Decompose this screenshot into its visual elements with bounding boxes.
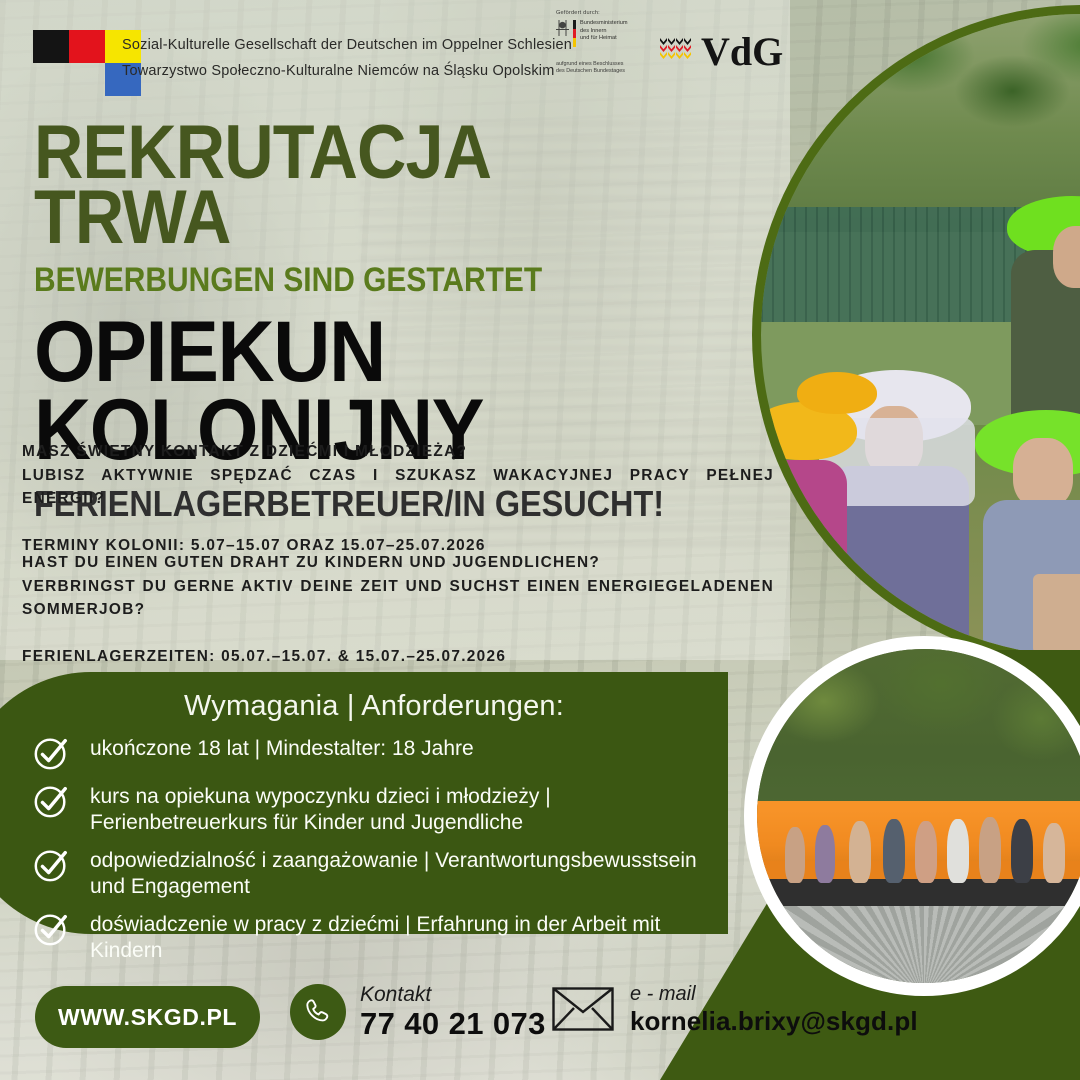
- train-passenger: [915, 821, 937, 883]
- email-address: kornelia.brixy@skgd.pl: [630, 1006, 918, 1036]
- list-item: doświadczenie w pracy z dziećmi | Erfahr…: [32, 909, 728, 964]
- phone-number: 77 40 21 073: [360, 1007, 546, 1041]
- body-de-line-2: VERBRINGST DU GERNE AKTIV DEINE ZEIT UND…: [22, 575, 774, 646]
- list-item: odpowiedzialność i zaangażowanie | Veran…: [32, 845, 728, 900]
- requirement-text: kurs na opiekuna wypoczynku dzieci i mło…: [90, 781, 728, 836]
- train-passenger: [947, 819, 969, 883]
- legs-adult: [1033, 574, 1080, 654]
- check-circle-icon: [32, 910, 70, 948]
- headline-kicker-pl: REKRUTACJA TRWA: [34, 120, 700, 251]
- bmi-line-2: des Innern: [580, 28, 628, 36]
- train-passenger: [785, 827, 805, 883]
- skgd-organisation-name: Sozial-Kulturelle Gesellschaft der Deuts…: [122, 32, 572, 84]
- train-passenger: [1011, 819, 1033, 883]
- photo-scene-top: [761, 14, 1080, 656]
- bmi-basis-line-2: des Deutschen Bundestages: [556, 68, 656, 75]
- headline-kicker-de: BEWERBUNGEN SIND GESTARTET: [34, 263, 685, 299]
- body-pl-line-1: MASZ ŚWIETNY KONTAKT Z DZIEĆMI I MŁODZIE…: [22, 440, 774, 464]
- bmi-basis-line-1: aufgrund eines Beschlusses: [556, 61, 656, 68]
- check-circle-icon: [32, 734, 70, 772]
- body-de-line-1: HAST DU EINEN GUTEN DRAHT ZU KINDERN UND…: [22, 551, 774, 575]
- train-passenger: [815, 825, 835, 883]
- logo-square-black: [33, 30, 69, 63]
- train-passenger: [979, 817, 1001, 883]
- body-paragraph-pl: MASZ ŚWIETNY KONTAKT Z DZIEĆMI I MŁODZIE…: [22, 440, 774, 558]
- envelope-icon: [552, 987, 614, 1031]
- requirements-list: ukończone 18 lat | Mindestalter: 18 Jahr…: [0, 733, 728, 964]
- hat-yellow-back: [797, 372, 877, 414]
- german-flag-bar-icon: [573, 20, 576, 47]
- list-item: ukończone 18 lat | Mindestalter: 18 Jahr…: [32, 733, 728, 772]
- check-circle-icon: [32, 782, 70, 820]
- logo-square-red: [69, 30, 105, 63]
- face-green-child: [1013, 438, 1073, 508]
- website-label: WWW.SKGD.PL: [58, 1004, 237, 1031]
- vdg-logo: VdG: [660, 34, 783, 70]
- requirements-panel: Wymagania | Anforderungen: ukończone 18 …: [0, 672, 728, 934]
- phone-text-lines: Kontakt 77 40 21 073: [360, 982, 546, 1041]
- face-adult: [1053, 226, 1080, 288]
- contact-label: Kontakt: [360, 982, 546, 1007]
- phone-contact-block[interactable]: Kontakt 77 40 21 073: [290, 982, 546, 1041]
- bmi-funding-logo: Gefördert durch: Bundesministerium des I…: [556, 10, 656, 75]
- vdg-wordmark: VdG: [701, 34, 783, 70]
- photo-tourist-train: [744, 636, 1080, 996]
- body-de-line-3: FERIENLAGERZEITEN: 05.07.–15.07. & 15.07…: [22, 645, 774, 669]
- train-handrail: [757, 801, 1080, 808]
- check-circle-icon: [32, 846, 70, 884]
- train-passenger: [849, 821, 871, 883]
- federal-eagle-icon: [556, 20, 569, 36]
- skgd-name-de: Sozial-Kulturelle Gesellschaft der Deuts…: [122, 32, 572, 58]
- train-passenger: [1043, 823, 1065, 883]
- bmi-logo-row: Bundesministerium des Innern und für Hei…: [556, 20, 656, 47]
- train-base: [757, 879, 1080, 906]
- poster-footer: WWW.SKGD.PL Kontakt 77 40 21 073 e - mai: [0, 970, 1080, 1080]
- email-label: e - mail: [630, 982, 918, 1006]
- vdg-chevron-mark-icon: [660, 38, 692, 66]
- bmi-ministry-name: Bundesministerium des Innern und für Hei…: [580, 20, 628, 43]
- website-button[interactable]: WWW.SKGD.PL: [35, 986, 260, 1048]
- phone-icon-circle[interactable]: [290, 984, 346, 1040]
- bmi-basis-text: aufgrund eines Beschlusses des Deutschen…: [556, 61, 656, 75]
- requirement-text: ukończone 18 lat | Mindestalter: 18 Jahr…: [90, 733, 474, 762]
- requirements-title: Wymagania | Anforderungen:: [0, 672, 728, 723]
- body-paragraph-de: HAST DU EINEN GUTEN DRAHT ZU KINDERN UND…: [22, 551, 774, 669]
- bmi-line-1: Bundesministerium: [580, 20, 628, 28]
- poster-root: Sozial-Kulturelle Gesellschaft der Deuts…: [0, 0, 1080, 1080]
- train-passenger: [883, 819, 905, 883]
- email-contact-block[interactable]: e - mail kornelia.brixy@skgd.pl: [552, 982, 918, 1036]
- email-text-lines: e - mail kornelia.brixy@skgd.pl: [630, 982, 918, 1036]
- phone-icon: [302, 996, 334, 1028]
- photo-mossy-rock-wall: [757, 649, 1080, 823]
- poster-header: Sozial-Kulturelle Gesellschaft der Deuts…: [0, 0, 1080, 105]
- requirement-text: odpowiedzialność i zaangażowanie | Veran…: [90, 845, 728, 900]
- requirement-text: doświadczenie w pracy z dziećmi | Erfahr…: [90, 909, 728, 964]
- bmi-line-3: und für Heimat: [580, 35, 628, 43]
- skgd-name-pl: Towarzystwo Społeczno-Kulturalne Niemców…: [122, 58, 572, 84]
- list-item: kurs na opiekuna wypoczynku dzieci i mło…: [32, 781, 728, 836]
- body-pl-line-2: LUBISZ AKTYWNIE SPĘDZAĆ CZAS I SZUKASZ W…: [22, 464, 774, 535]
- bmi-funded-by-label: Gefördert durch:: [556, 10, 656, 16]
